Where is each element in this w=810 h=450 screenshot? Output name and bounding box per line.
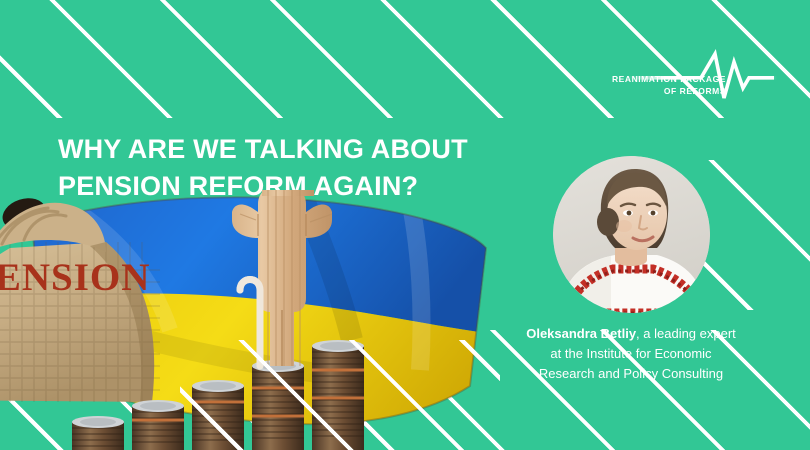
portrait-photo [553,156,710,313]
speaker-affiliation-line2: Research and Policy Consulting [539,366,723,381]
coin-stack-5 [312,340,364,450]
logo[interactable]: REANIMATION PACKAGE OF REFORMS [622,48,782,110]
speaker-role: , a leading expert [636,326,736,341]
pension-imagery-collage: PENSION [0,190,500,450]
logo-text: REANIMATION PACKAGE OF REFORMS [612,74,726,97]
coin-stack-4 [252,360,304,450]
speaker-name: Oleksandra Betliy [526,326,636,341]
logo-text-line2: OF REFORMS [612,86,726,98]
logo-text-line1: REANIMATION PACKAGE [612,74,726,86]
coin-stack-3 [192,380,244,450]
speaker-caption: Oleksandra Betliy, a leading expert at t… [500,324,762,384]
money-bag-label: PENSION [0,256,150,299]
pension-reform-banner: REANIMATION PACKAGE OF REFORMS WHY ARE W… [0,0,810,450]
coin-stack-2 [132,400,184,450]
coin-stack-1 [72,416,124,450]
avatar [553,156,710,313]
speaker-affiliation-line1: at the Institute for Economic [550,346,711,361]
